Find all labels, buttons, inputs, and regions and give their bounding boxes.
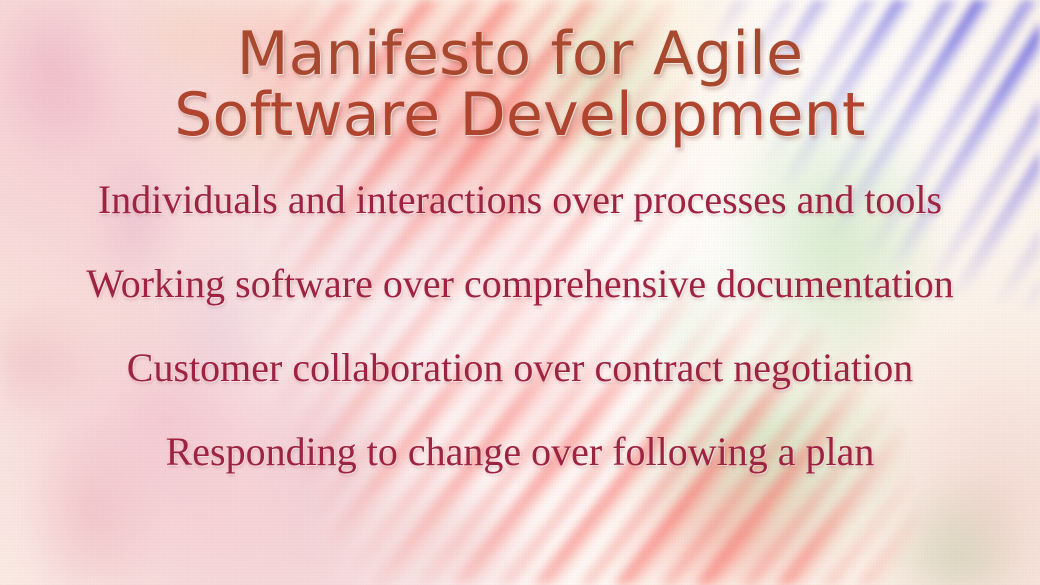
slide-title: Manifesto for Agile Software Development <box>174 24 865 146</box>
manifesto-value-3: Customer collaboration over contract neg… <box>127 348 913 388</box>
title-line-1: Manifesto for Agile <box>174 24 865 85</box>
agile-manifesto-slide: Manifesto for Agile Software Development… <box>0 0 1040 585</box>
manifesto-values-list: Individuals and interactions over proces… <box>0 180 1040 472</box>
slide-content: Manifesto for Agile Software Development… <box>0 0 1040 585</box>
manifesto-value-2: Working software over comprehensive docu… <box>86 264 954 304</box>
title-line-2: Software Development <box>174 85 865 146</box>
manifesto-value-4: Responding to change over following a pl… <box>166 432 875 472</box>
manifesto-value-1: Individuals and interactions over proces… <box>98 180 942 220</box>
